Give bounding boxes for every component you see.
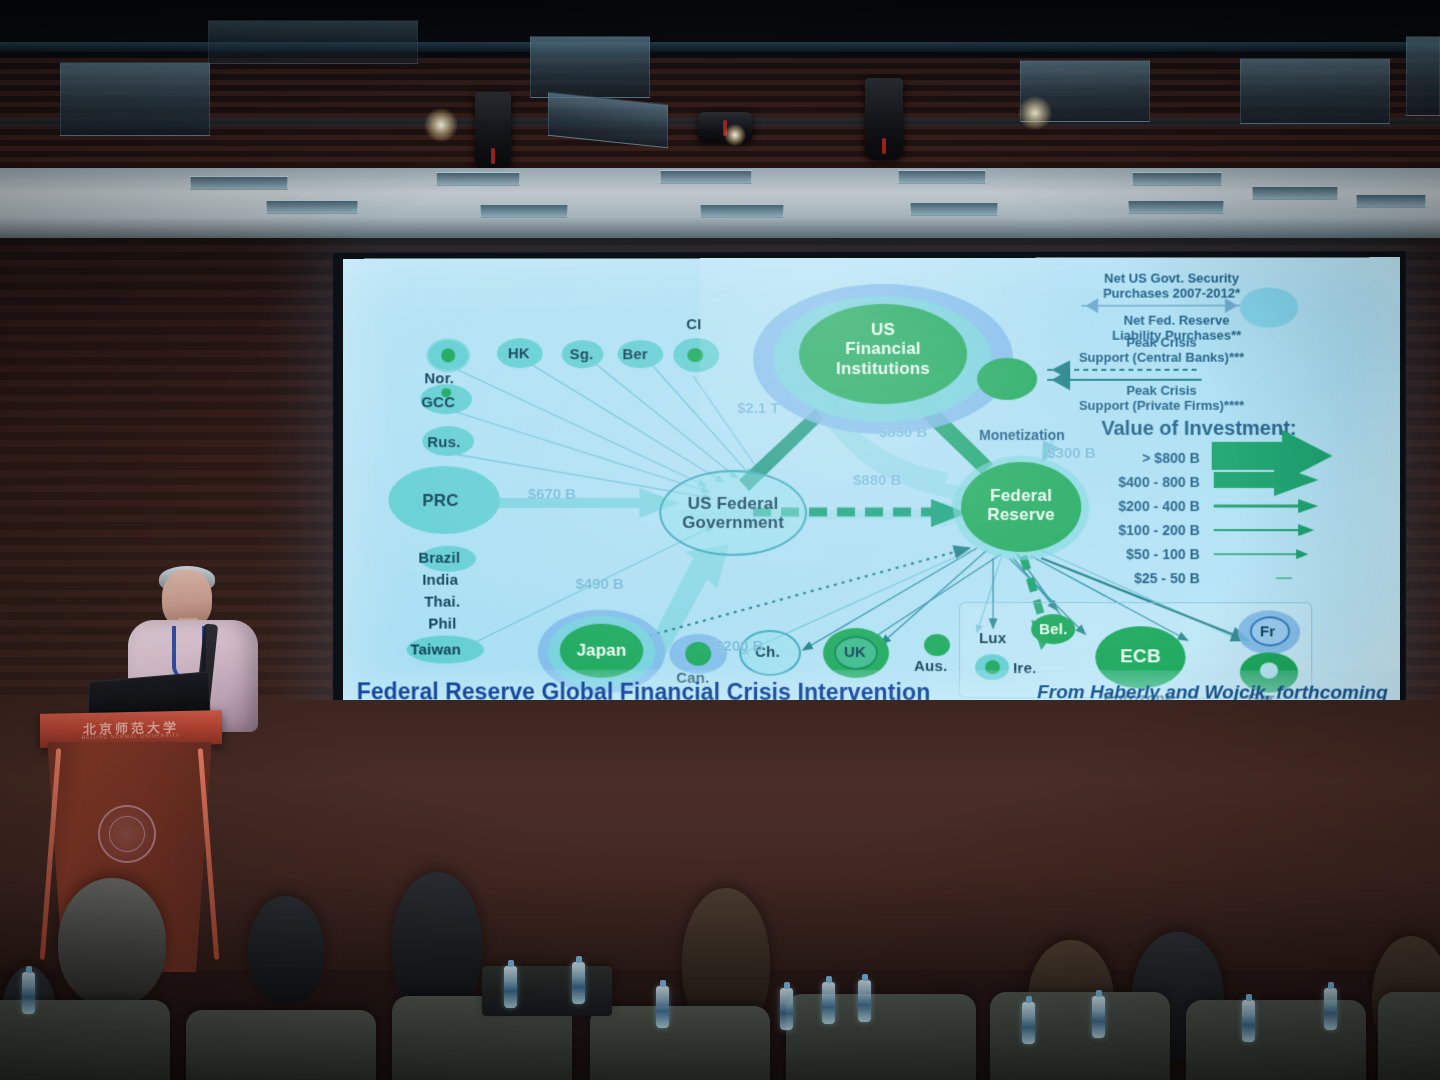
water-bottle — [1022, 1002, 1035, 1044]
water-bottle — [504, 966, 517, 1008]
auditorium-seat — [786, 994, 976, 1080]
auditorium-seat — [1186, 1000, 1366, 1080]
ceiling-panel — [1240, 58, 1390, 124]
water-bottle — [656, 986, 669, 1028]
auditorium-photo: Nor. GCC Rus. HK Sg. Ber CI PRC Brazil I… — [0, 0, 1440, 1080]
ceiling-panel — [60, 62, 210, 136]
ceiling-lamp — [898, 170, 986, 184]
ceiling-lamp — [1128, 200, 1224, 214]
ceiling-lamp — [266, 200, 358, 214]
water-bottle — [780, 988, 793, 1030]
water-bottle — [822, 982, 835, 1024]
ceiling-lamp — [480, 204, 568, 218]
water-bottle — [572, 962, 585, 1004]
spotlight-glow — [724, 124, 746, 146]
audience-head — [248, 896, 324, 1004]
ceiling-lamp — [1356, 194, 1426, 208]
auditorium-seat — [186, 1010, 376, 1080]
projection-screen: Nor. GCC Rus. HK Sg. Ber CI PRC Brazil I… — [343, 257, 1400, 715]
water-bottle — [1324, 988, 1337, 1030]
ceiling-lamp — [1252, 186, 1338, 200]
spotlight-glow — [1018, 96, 1052, 130]
ceiling-lamp — [660, 170, 752, 184]
auditorium-seat — [1378, 992, 1440, 1080]
legend-arrow-samples — [343, 257, 1400, 715]
audience-head — [58, 878, 166, 1006]
podium-university-seal — [98, 805, 156, 863]
auditorium-seat — [990, 992, 1170, 1080]
auditorium-seat — [482, 966, 612, 1016]
spotlight-glow — [424, 108, 458, 142]
ceiling-lamp — [700, 204, 784, 218]
ceiling-panel — [1406, 36, 1440, 116]
ceiling-lamp — [190, 176, 288, 190]
ceiling-lamp — [1132, 172, 1222, 186]
stage-spotlight — [865, 78, 903, 160]
ceiling-lamp — [910, 202, 998, 216]
ceiling-panel — [530, 36, 650, 98]
slide-content: Nor. GCC Rus. HK Sg. Ber CI PRC Brazil I… — [343, 257, 1400, 715]
water-bottle — [1092, 996, 1105, 1038]
water-bottle — [858, 980, 871, 1022]
stage-spotlight — [475, 92, 511, 170]
water-bottle — [22, 972, 35, 1014]
ceiling-lamp — [436, 172, 520, 186]
ceiling-panel — [208, 20, 418, 64]
auditorium-seat — [590, 1006, 770, 1080]
water-bottle — [1242, 1000, 1255, 1042]
